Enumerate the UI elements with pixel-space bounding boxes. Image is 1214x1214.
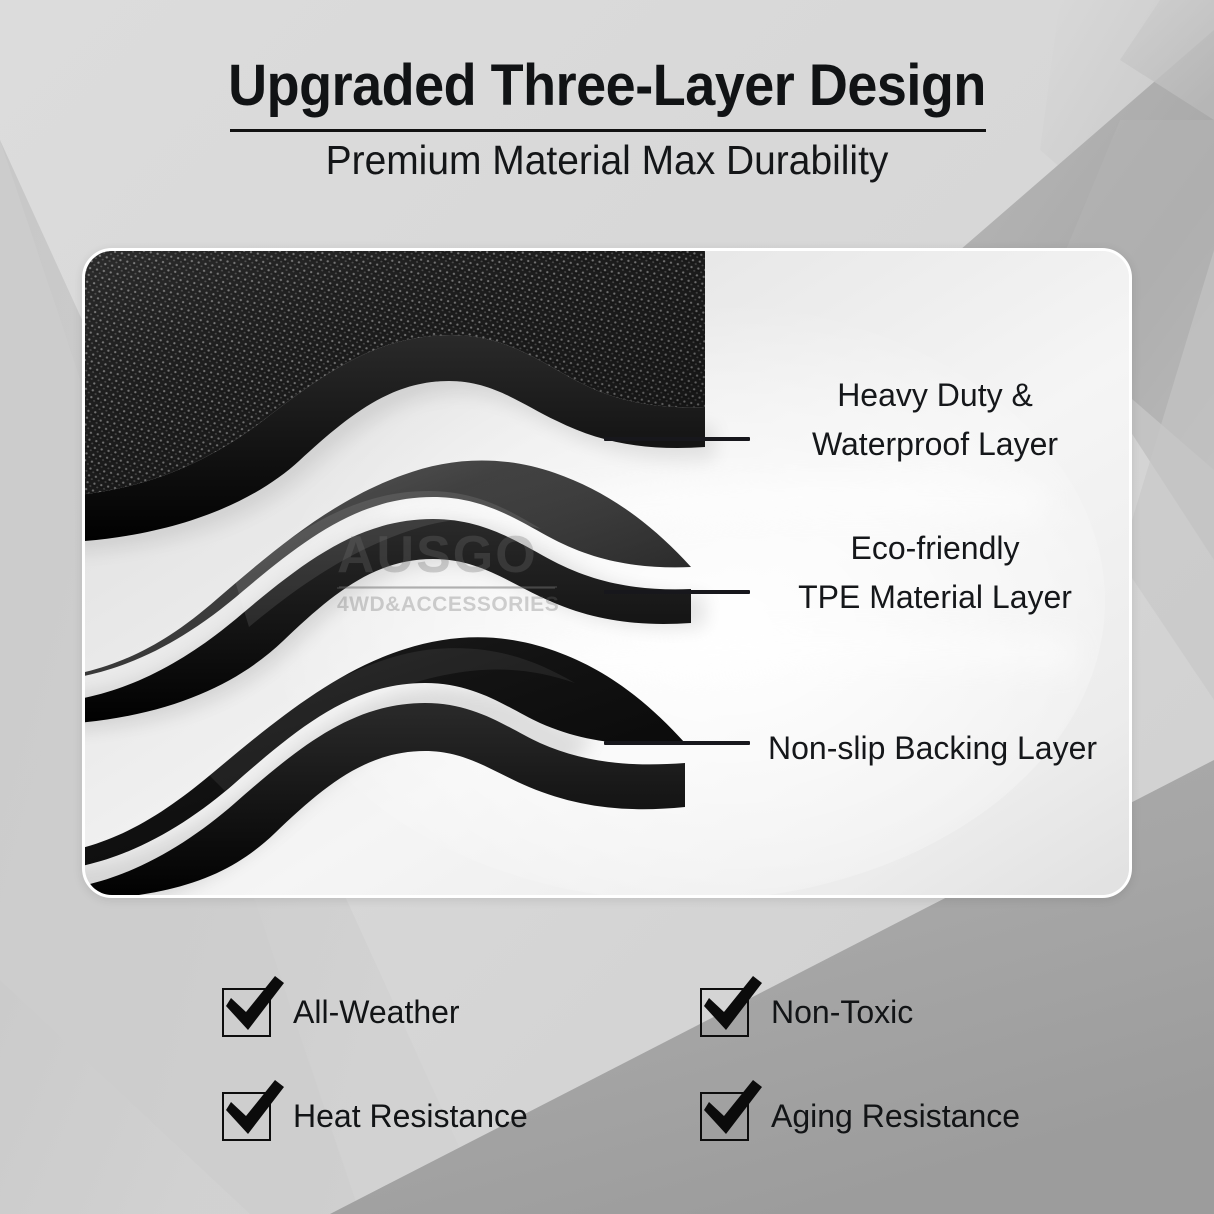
callout-line: Non-slip Backing Layer [768,724,1108,773]
check-icon [696,1078,768,1144]
callout-label: Non-slip Backing Layer [768,724,1108,773]
callout-leader-line [604,741,750,745]
callout-label: Eco-friendly TPE Material Layer [775,524,1095,621]
checkbox-all-weather[interactable] [222,988,271,1037]
callout-leader-line [604,590,750,594]
check-icon [218,1078,290,1144]
callout-leader-line [604,437,750,441]
checkbox-aging-resistance[interactable] [700,1092,749,1141]
checkbox-heat-resistance[interactable] [222,1092,271,1141]
check-icon [218,974,290,1040]
product-infographic: Upgraded Three-Layer Design Premium Mate… [0,0,1214,1214]
wedge-top-right-e [1120,250,1214,700]
feature-label: Aging Resistance [771,1098,1020,1135]
page-subtitle: Premium Material Max Durability [30,117,1183,184]
wedge-bottom-left [0,980,250,1214]
callout-line: Waterproof Layer [775,420,1095,469]
check-icon [696,974,768,1040]
feature-aging-resistance[interactable]: Aging Resistance [700,1092,1020,1141]
callout-line: TPE Material Layer [775,573,1095,622]
feature-all-weather[interactable]: All-Weather [222,988,460,1037]
header: Upgraded Three-Layer Design Premium Mate… [0,0,1214,184]
feature-label: Heat Resistance [293,1098,528,1135]
feature-label: Non-Toxic [771,994,913,1031]
feature-label: All-Weather [293,994,460,1031]
page-title: Upgraded Three-Layer Design [42,0,1171,117]
feature-heat-resistance[interactable]: Heat Resistance [222,1092,528,1141]
callout-label: Heavy Duty & Waterproof Layer [775,371,1095,468]
callout-line: Eco-friendly [775,524,1095,573]
feature-non-toxic[interactable]: Non-Toxic [700,988,913,1037]
callout-line: Heavy Duty & [775,371,1095,420]
checkbox-non-toxic[interactable] [700,988,749,1037]
